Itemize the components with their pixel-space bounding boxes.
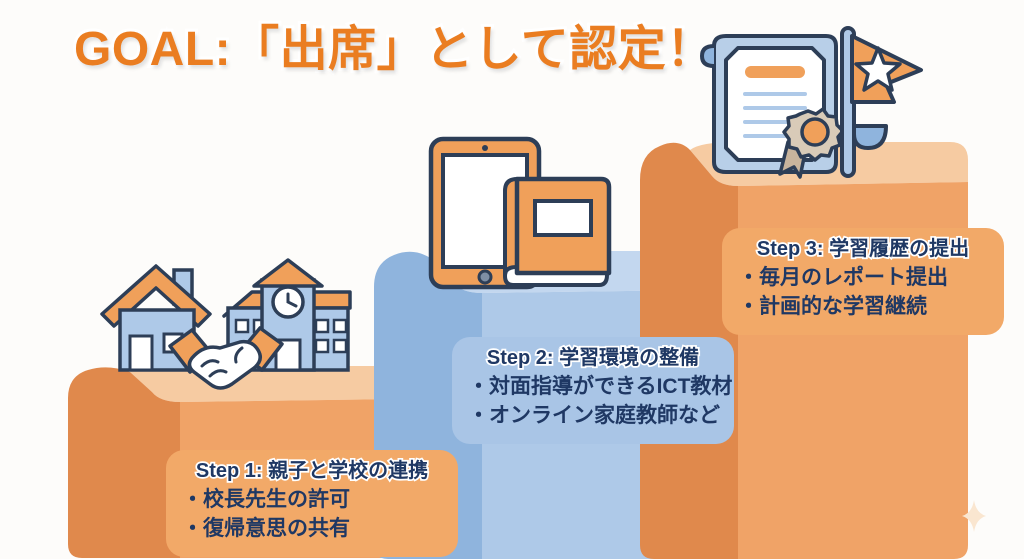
sparkle-icon (961, 500, 987, 532)
step-3-bullet-2: ・計画的な学習継続 (738, 293, 988, 322)
step-2-text-panel: Step 2: 学習環境の整備 ・対面指導ができるICT教材 ・オンライン家庭教… (452, 337, 734, 444)
step-1-bullets: ・校長先生の許可 ・復帰意思の共有 (182, 486, 442, 544)
step-3-bullet-1: ・毎月のレポート提出 (738, 264, 988, 293)
step-1-bullet-2: ・復帰意思の共有 (182, 515, 442, 544)
step-2-heading: Step 2: 学習環境の整備 (468, 346, 718, 371)
step-1-bullet-1: ・校長先生の許可 (182, 486, 442, 515)
step-3-heading: Step 3: 学習履歴の提出 (738, 237, 988, 262)
infographic-canvas: GOAL:「出席」として認定！ (0, 0, 1024, 559)
house-school-handshake-icon (100, 258, 362, 388)
step-2-bullet-1: ・対面指導ができるICT教材 (468, 373, 718, 402)
certificate-flag-icon (700, 22, 925, 177)
step-3-bullets: ・毎月のレポート提出 ・計画的な学習継続 (738, 264, 988, 322)
tablet-book-icon (425, 133, 620, 293)
page-title: GOAL:「出席」として認定！ (74, 26, 715, 74)
step-1-text-panel: Step 1: 親子と学校の連携 ・校長先生の許可 ・復帰意思の共有 (166, 450, 458, 557)
step-2-bullets: ・対面指導ができるICT教材 ・オンライン家庭教師など (468, 373, 718, 431)
step-2-bullet-2: ・オンライン家庭教師など (468, 402, 718, 431)
step-1-heading: Step 1: 親子と学校の連携 (182, 459, 442, 484)
step-3-text-panel: Step 3: 学習履歴の提出 ・毎月のレポート提出 ・計画的な学習継続 (722, 228, 1004, 335)
